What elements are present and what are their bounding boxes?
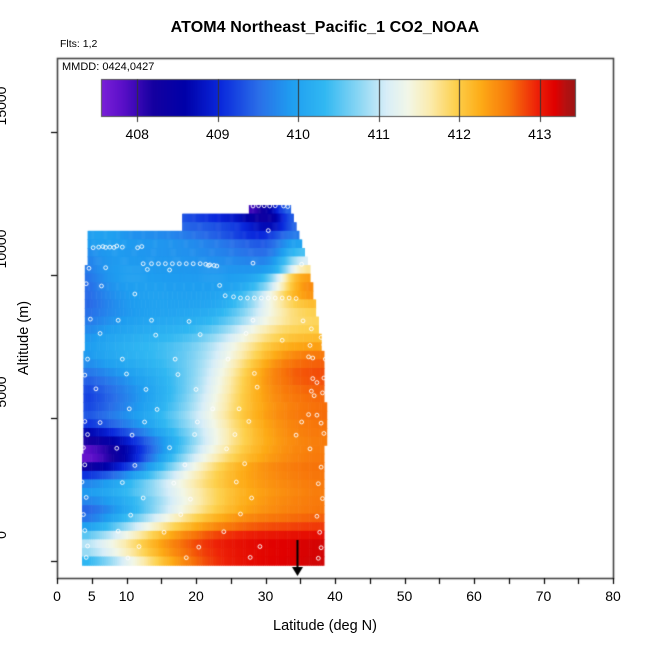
colorbar-tick-410: 410 <box>268 126 328 142</box>
x-tick-20: 20 <box>166 588 226 604</box>
curtain-plot-canvas <box>0 0 650 650</box>
x-tick-30: 30 <box>236 588 296 604</box>
x-tick-10: 10 <box>97 588 157 604</box>
x-axis-title: Latitude (deg N) <box>0 618 650 634</box>
y-tick-15000: 15000 <box>0 61 9 151</box>
x-tick-60: 60 <box>444 588 504 604</box>
x-tick-70: 70 <box>514 588 574 604</box>
y-tick-10000: 10000 <box>0 204 9 294</box>
page-title: ATOM4 Northeast_Pacific_1 CO2_NOAA <box>0 19 650 37</box>
x-tick-80: 80 <box>583 588 643 604</box>
mmdd-label: MMDD: 0424,0427 <box>62 61 154 73</box>
flights-label: Flts: 1,2 <box>60 38 97 50</box>
colorbar-tick-413: 413 <box>510 126 570 142</box>
colorbar-tick-411: 411 <box>349 126 409 142</box>
chart-root: ATOM4 Northeast_Pacific_1 CO2_NOAA Flts:… <box>0 0 650 650</box>
y-tick-5000: 5000 <box>0 347 9 437</box>
colorbar-tick-409: 409 <box>188 126 248 142</box>
colorbar-tick-412: 412 <box>429 126 489 142</box>
x-tick-40: 40 <box>305 588 365 604</box>
colorbar-tick-408: 408 <box>107 126 167 142</box>
x-tick-50: 50 <box>375 588 435 604</box>
y-tick-0: 0 <box>0 490 9 580</box>
y-axis-title: Altitude (m) <box>16 258 32 418</box>
